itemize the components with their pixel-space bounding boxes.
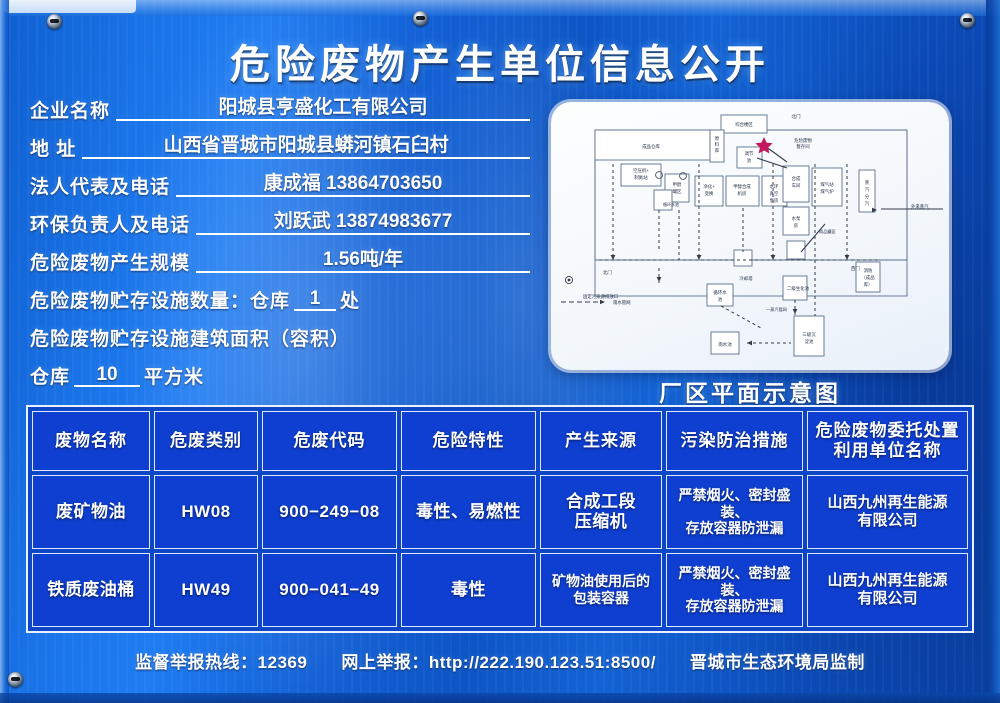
- svg-text:池: 池: [747, 157, 752, 163]
- mounting-screw-top-center: [413, 11, 428, 26]
- site-plan-diagram: 综合楼区 成品仓库 原料库 北门 固定污染源排放口 雨水管网 危险废物 暂存间 …: [551, 102, 949, 370]
- svg-text:汽: 汽: [865, 186, 870, 192]
- table-row: 废矿物油 HW08 900−249−08 毒性、易燃性 合成工段 压缩机 严禁烟…: [32, 475, 968, 549]
- th-disposal-unit: 危险废物委托处置 利用单位名称: [807, 411, 968, 471]
- cell-waste-name: 铁质废油桶: [32, 553, 150, 627]
- svg-text:成品仓库: 成品仓库: [642, 143, 660, 150]
- svg-text:循环水池: 循环水池: [663, 201, 679, 207]
- cell-control-line1: 严禁烟火、密封盛装、: [668, 565, 801, 598]
- svg-text:北门: 北门: [791, 113, 801, 120]
- svg-text:蒸: 蒸: [865, 179, 870, 186]
- facility-count-label: 危险废物贮存设施数量：仓库: [30, 292, 290, 311]
- svg-text:甲醇合成: 甲醇合成: [733, 183, 751, 190]
- svg-text:成品罐区: 成品罐区: [819, 228, 836, 235]
- address-label: 地 址: [30, 140, 76, 159]
- cell-disposal-unit-line1: 山西九州再生能源: [809, 572, 966, 590]
- svg-text:空压机+: 空压机+: [633, 167, 649, 174]
- env-officer-value: 刘跃武 13874983677: [196, 212, 530, 235]
- scale-label: 危险废物产生规模: [30, 254, 190, 273]
- svg-text:—蒸汽管网: —蒸汽管网: [766, 306, 787, 313]
- cell-control-measures: 严禁烟火、密封盛装、 存放容器防泄漏: [666, 553, 803, 627]
- info-row-company: 企业名称 阳城县亨盛化工有限公司: [30, 97, 530, 121]
- svg-text:原: 原: [715, 136, 720, 141]
- svg-text:汽: 汽: [865, 200, 870, 206]
- svg-text:水泵: 水泵: [792, 215, 801, 221]
- facility-count-unit: 处: [340, 292, 360, 311]
- legal-rep-value: 康成福 13864703650: [176, 174, 530, 197]
- storage-area-label: 危险废物贮存设施建筑面积（容积）: [30, 330, 350, 349]
- svg-text:煤气站: 煤气站: [820, 181, 834, 188]
- svg-text:二级生化池: 二级生化池: [787, 285, 810, 292]
- info-row-legal-rep: 法人代表及电话 康成福 13864703650: [30, 173, 530, 197]
- svg-text:西门: 西门: [851, 265, 860, 272]
- report-hotline: 监督举报热线：12369: [135, 648, 307, 673]
- table-header-row: 废物名称 危废类别 危废代码 危险特性 产生来源 污染防治措施 危险废物委托处置…: [32, 411, 968, 471]
- cell-disposal-unit: 山西九州再生能源 有限公司: [807, 553, 968, 627]
- svg-text:水环: 水环: [770, 183, 779, 190]
- company-info-block: 企业名称 阳城县亨盛化工有限公司 地 址 山西省晋城市阳城县蟒河镇石臼村 法人代…: [30, 97, 530, 401]
- scale-value: 1.56吨/年: [196, 250, 530, 273]
- mounting-screw-bottom-left: [8, 672, 23, 687]
- th-hazard-property: 危险特性: [401, 411, 536, 471]
- board-bottom-edge: [0, 693, 1000, 703]
- svg-text:煤气炉: 煤气炉: [820, 188, 834, 195]
- legal-rep-label: 法人代表及电话: [30, 178, 170, 197]
- cell-disposal-unit-line2: 有限公司: [809, 512, 966, 530]
- svg-text:合成: 合成: [792, 175, 801, 182]
- svg-text:三级沉: 三级沉: [802, 331, 816, 338]
- warehouse-area-value: 10: [74, 365, 140, 387]
- svg-text:淀池: 淀池: [805, 338, 814, 345]
- svg-text:真空: 真空: [770, 190, 779, 197]
- svg-text:泵房: 泵房: [770, 197, 779, 204]
- board-right-edge: [986, 0, 1000, 703]
- address-value: 山西省晋城市阳城县蟒河镇石臼村: [82, 136, 530, 159]
- table-row: 铁质废油桶 HW49 900−041−49 毒性 矿物油使用后的 包装容器 严禁…: [32, 553, 968, 627]
- warehouse-label: 仓库: [30, 368, 70, 387]
- board-top-white-tab: [4, 0, 136, 13]
- cell-source: 矿物油使用后的 包装容器: [540, 553, 662, 627]
- svg-text:固定污染源排放口: 固定污染源排放口: [583, 293, 618, 300]
- svg-text:分: 分: [865, 193, 870, 200]
- company-value: 阳城县亨盛化工有限公司: [116, 98, 530, 121]
- cell-control-line2: 存放容器防泄漏: [668, 598, 801, 615]
- svg-text:车间: 车间: [792, 182, 801, 189]
- th-disposal-unit-line1: 危险废物委托处置: [809, 421, 966, 441]
- svg-text:甲醇: 甲醇: [673, 181, 682, 188]
- page-title: 危险废物产生单位信息公开: [0, 32, 1000, 90]
- cell-source-line2: 压缩机: [542, 512, 660, 532]
- cell-waste-name: 废矿物油: [32, 475, 150, 549]
- board-top-edge: [0, 0, 1000, 16]
- svg-text:调节: 调节: [745, 150, 754, 157]
- svg-text:库: 库: [715, 147, 720, 154]
- svg-text:外来蒸汽: 外来蒸汽: [911, 203, 929, 210]
- cell-source: 合成工段 压缩机: [540, 475, 662, 549]
- svg-text:循环水: 循环水: [713, 289, 727, 296]
- info-row-address: 地 址 山西省晋城市阳城县蟒河镇石臼村: [30, 135, 530, 159]
- warehouse-area-unit: 平方米: [144, 368, 204, 387]
- svg-text:净化+: 净化+: [703, 183, 715, 190]
- hazardous-waste-table: 废物名称 危废类别 危废代码 危险特性 产生来源 污染防治措施 危险废物委托处置…: [26, 405, 974, 633]
- cell-waste-code: 900−249−08: [262, 475, 397, 549]
- cell-waste-category: HW49: [154, 553, 258, 627]
- cell-hazard-property: 毒性: [401, 553, 536, 627]
- svg-text:综合楼区: 综合楼区: [735, 121, 753, 128]
- svg-text:机房: 机房: [738, 190, 747, 197]
- svg-text:雨水池: 雨水池: [718, 341, 732, 348]
- cell-source-line1: 矿物油使用后的: [542, 573, 660, 590]
- th-waste-category: 危废类别: [154, 411, 258, 471]
- th-waste-name: 废物名称: [32, 411, 150, 471]
- diagram-caption: 厂区平面示意图: [551, 374, 949, 408]
- cell-disposal-unit-line2: 有限公司: [809, 590, 966, 608]
- cell-waste-category: HW08: [154, 475, 258, 549]
- th-disposal-unit-line2: 利用单位名称: [809, 441, 966, 461]
- svg-text:料: 料: [715, 141, 720, 148]
- info-row-scale: 危险废物产生规模 1.56吨/年: [30, 249, 530, 273]
- information-board: 危险废物产生单位信息公开 企业名称 阳城县亨盛化工有限公司 地 址 山西省晋城市…: [0, 0, 1000, 703]
- svg-text:制氮站: 制氮站: [634, 174, 648, 181]
- cell-control-line1: 严禁烟火、密封盛装、: [668, 487, 801, 520]
- cell-control-line2: 存放容器防泄漏: [668, 520, 801, 537]
- th-waste-code: 危废代码: [262, 411, 397, 471]
- th-source: 产生来源: [540, 411, 662, 471]
- svg-text:冷却塔: 冷却塔: [739, 275, 753, 282]
- th-control-measures: 污染防治措施: [666, 411, 803, 471]
- cell-source-line2: 包装容器: [542, 590, 660, 607]
- cell-disposal-unit-line1: 山西九州再生能源: [809, 494, 966, 512]
- issuing-authority: 晋城市生态环境局监制: [690, 648, 865, 673]
- info-row-facility-count: 危险废物贮存设施数量：仓库 1 处: [30, 287, 530, 311]
- svg-text:消防: 消防: [864, 267, 873, 274]
- cell-source-line1: 合成工段: [542, 492, 660, 512]
- svg-text:（成品: （成品: [861, 274, 875, 281]
- cell-disposal-unit: 山西九州再生能源 有限公司: [807, 475, 968, 549]
- info-row-env-officer: 环保负责人及电话 刘跃武 13874983677: [30, 211, 530, 235]
- facility-count-value: 1: [294, 289, 336, 311]
- info-row-area-label: 危险废物贮存设施建筑面积（容积）: [30, 325, 530, 349]
- svg-text:罐区: 罐区: [673, 188, 682, 195]
- mounting-screw-top-right: [960, 13, 975, 28]
- svg-text:暂存间: 暂存间: [796, 143, 809, 150]
- cell-waste-code: 900−041−49: [262, 553, 397, 627]
- svg-text:池: 池: [718, 296, 723, 302]
- mounting-screw-top-left: [47, 14, 62, 29]
- svg-text:雨水管网: 雨水管网: [613, 299, 631, 306]
- svg-text:变换: 变换: [705, 190, 714, 197]
- footer-bar: 监督举报热线：12369 网上举报：http://222.190.123.51:…: [0, 648, 1000, 673]
- env-officer-label: 环保负责人及电话: [30, 216, 190, 235]
- svg-text:房: 房: [794, 222, 799, 229]
- svg-text:库）: 库）: [864, 281, 873, 288]
- cell-control-measures: 严禁烟火、密封盛装、 存放容器防泄漏: [666, 475, 803, 549]
- svg-text:危险废物: 危险废物: [794, 137, 812, 144]
- info-row-warehouse-area: 仓库 10 平方米: [30, 363, 530, 387]
- board-left-edge: [0, 0, 9, 703]
- company-label: 企业名称: [30, 102, 110, 121]
- online-report-url[interactable]: 网上举报：http://222.190.123.51:8500/: [341, 648, 656, 673]
- cell-hazard-property: 毒性、易燃性: [401, 475, 536, 549]
- svg-text:北门: 北门: [603, 269, 612, 276]
